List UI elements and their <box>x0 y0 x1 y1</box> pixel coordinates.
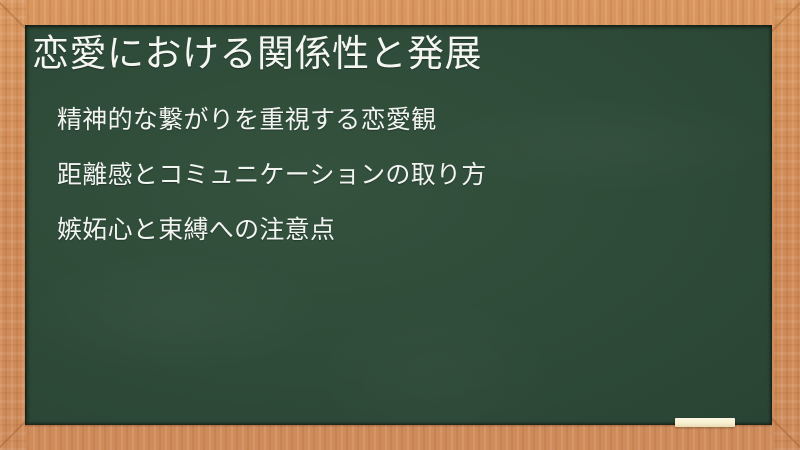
list-item: 距離感とコミュニケーションの取り方 <box>57 163 487 188</box>
wood-frame-left-rail <box>0 0 26 450</box>
frame-miter-top-right <box>769 0 800 34</box>
list-item: 精神的な繋がりを重視する恋愛観 <box>57 108 487 133</box>
list-item: 嫉妬心と束縛への注意点 <box>57 218 487 243</box>
chalkboard-surface: 恋愛における関係性と発展 精神的な繋がりを重視する恋愛観 距離感とコミュニケーシ… <box>25 25 772 425</box>
slide-title: 恋愛における関係性と発展 <box>32 31 482 77</box>
frame-miter-bottom-right <box>769 416 800 450</box>
chalk-stick-icon <box>675 418 735 427</box>
slide-bullet-list: 精神的な繋がりを重視する恋愛観 距離感とコミュニケーションの取り方 嫉妬心と束縛… <box>57 108 487 243</box>
wood-frame-right-rail <box>774 0 800 450</box>
chalkboard-slide: 恋愛における関係性と発展 精神的な繋がりを重視する恋愛観 距離感とコミュニケーシ… <box>0 0 800 450</box>
